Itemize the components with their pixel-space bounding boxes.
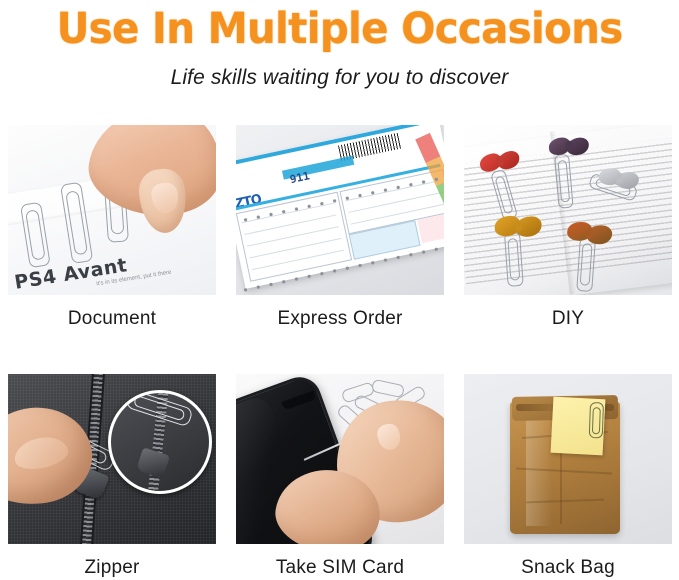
waybill-number: 911 xyxy=(289,169,311,186)
photo-snack-bag xyxy=(464,374,672,544)
use-case-cell-snack-bag: Snack Bag xyxy=(464,374,672,580)
caption-document: Document xyxy=(8,307,216,331)
caption-express-order: Express Order xyxy=(236,307,444,331)
grid-row-1: PS4 Avant it's in its element, put it th… xyxy=(8,125,671,331)
caption-diy: DIY xyxy=(464,307,672,331)
magnifier-inset xyxy=(108,390,212,494)
zipper-slider xyxy=(136,447,170,478)
use-case-cell-document: PS4 Avant it's in its element, put it th… xyxy=(8,125,216,331)
use-case-cell-zipper: Zipper xyxy=(8,374,216,580)
caption-zipper: Zipper xyxy=(8,556,216,580)
photo-diy xyxy=(464,125,672,295)
product-infographic: Use In Multiple Occasions Life skills wa… xyxy=(0,0,679,569)
use-case-grid: PS4 Avant it's in its element, put it th… xyxy=(8,125,671,580)
use-case-cell-take-sim-card: Take SIM Card xyxy=(236,374,444,580)
page-title: Use In Multiple Occasions xyxy=(20,2,658,56)
bag-highlight xyxy=(526,408,552,526)
photo-zipper xyxy=(8,374,216,544)
use-case-cell-express-order: 911 ZTO xyxy=(236,125,444,331)
caption-take-sim-card: Take SIM Card xyxy=(236,556,444,580)
photo-express-order: 911 ZTO xyxy=(236,125,444,295)
caption-snack-bag: Snack Bag xyxy=(464,556,672,580)
photo-document: PS4 Avant it's in its element, put it th… xyxy=(8,125,216,295)
photo-take-sim-card xyxy=(236,374,444,544)
page-subtitle: Life skills waiting for you to discover xyxy=(0,64,679,92)
grid-row-2: Zipper xyxy=(8,374,671,580)
use-case-cell-diy: DIY xyxy=(464,125,672,331)
